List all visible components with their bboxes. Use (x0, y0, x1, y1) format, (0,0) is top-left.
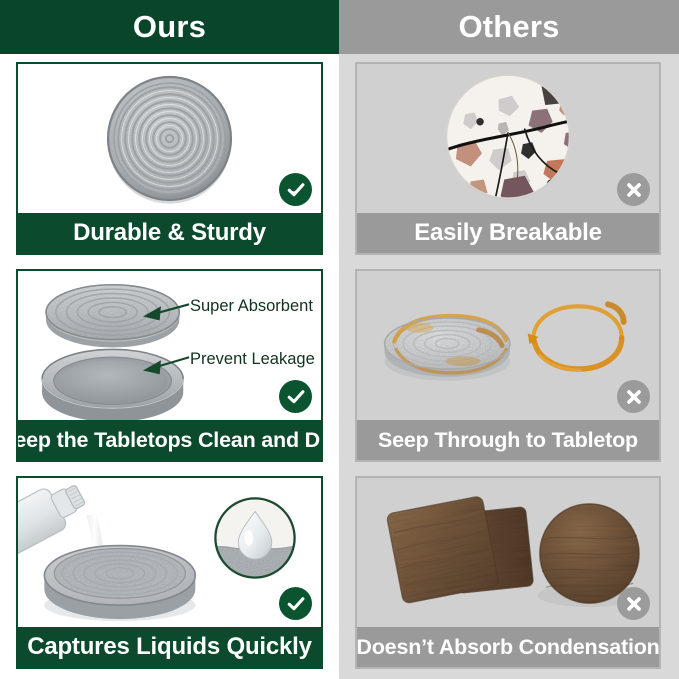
ours-card-clean-dry: Super Absorbent Prevent Leakage Keep the… (16, 269, 323, 462)
stained-coaster-with-coffee-ring-icon (357, 271, 659, 420)
others-header-label: Others (458, 9, 559, 45)
ours-figure-captures-liquids (18, 478, 321, 627)
check-badge-icon (279, 380, 312, 413)
ours-header-label: Ours (133, 9, 206, 45)
others-figure-no-absorb (357, 478, 659, 627)
ours-figure-clean-dry: Super Absorbent Prevent Leakage (18, 271, 321, 420)
water-droplet-absorption-detail-icon (211, 494, 299, 582)
ours-card-list: Durable & Sturdy (0, 54, 339, 679)
others-column: Others (339, 0, 679, 679)
annotation-prevent-leakage: Prevent Leakage (190, 350, 315, 369)
others-figure-seep-through (357, 271, 659, 420)
others-card-no-absorb: Doesn’t Absorb Condensation (355, 476, 661, 669)
others-card-breakable: Easily Breakable (355, 62, 661, 255)
others-column-header: Others (339, 0, 679, 54)
annotation-super-absorbent: Super Absorbent (190, 297, 313, 316)
others-card-seep-through: Seep Through to Tabletop (355, 269, 661, 462)
ours-card-durable: Durable & Sturdy (16, 62, 323, 255)
ours-label-clean-dry: Keep the Tabletops Clean and Dry (18, 420, 321, 460)
woven-coaster-top-view-icon (18, 64, 321, 213)
check-badge-icon (279, 587, 312, 620)
x-badge-icon (617, 380, 650, 413)
others-label-breakable: Easily Breakable (357, 213, 659, 253)
others-label-seep-through: Seep Through to Tabletop (357, 420, 659, 460)
ours-label-durable: Durable & Sturdy (18, 213, 321, 253)
x-badge-icon (617, 173, 650, 206)
ours-label-captures-liquids: Captures Liquids Quickly (18, 627, 321, 667)
ours-column: Ours (0, 0, 339, 679)
check-badge-icon (279, 173, 312, 206)
others-figure-breakable (357, 64, 659, 213)
x-badge-icon (617, 587, 650, 620)
cracked-terrazzo-coaster-icon (357, 64, 659, 213)
ours-column-header: Ours (0, 0, 339, 54)
ours-figure-durable (18, 64, 321, 213)
comparison-infographic: Ours (0, 0, 679, 679)
wooden-coasters-icon (357, 478, 659, 627)
ours-card-captures-liquids: Captures Liquids Quickly (16, 476, 323, 669)
others-card-list: Easily Breakable (339, 54, 679, 679)
coaster-exploded-view-icon (18, 271, 321, 420)
others-label-no-absorb: Doesn’t Absorb Condensation (357, 627, 659, 667)
